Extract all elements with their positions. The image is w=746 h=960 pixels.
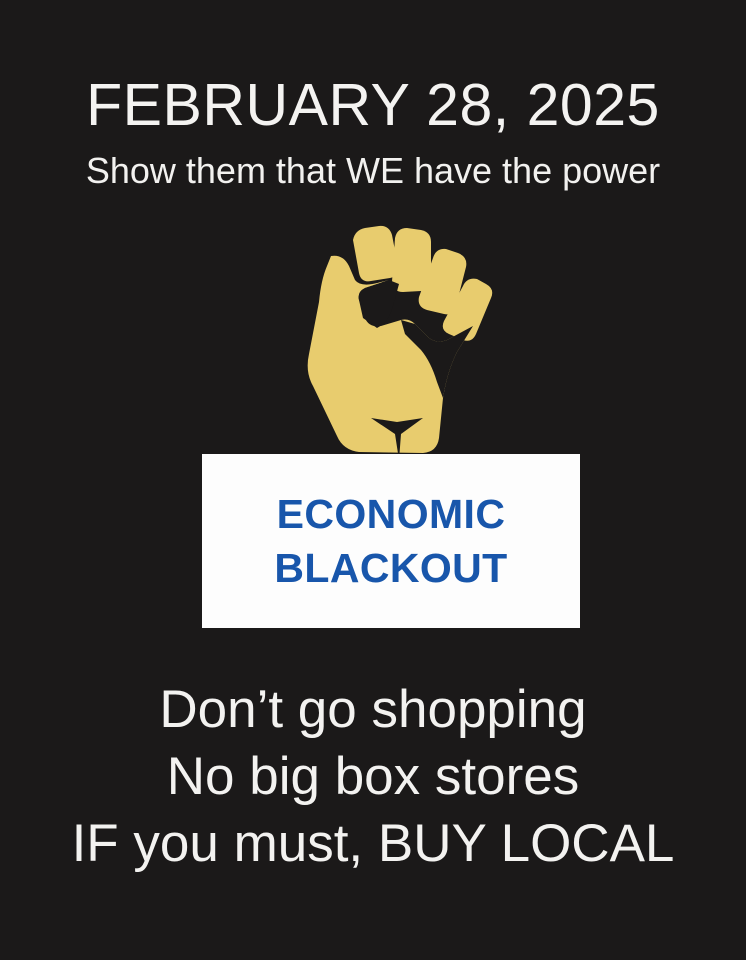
- fist-and-sign-graphic: ECONOMIC BLACKOUT: [0, 222, 746, 634]
- raised-fist-icon: [297, 222, 493, 462]
- cta-line-no-big-box-stores: No big box stores: [0, 743, 746, 810]
- header-block: FEBRUARY 28, 2025 Show them that WE have…: [0, 0, 746, 189]
- sign-line-economic: ECONOMIC: [277, 487, 506, 541]
- sign-line-blackout: BLACKOUT: [274, 541, 507, 595]
- protest-sign: ECONOMIC BLACKOUT: [202, 454, 580, 628]
- cta-line-buy-local: IF you must, BUY LOCAL: [0, 810, 746, 877]
- subtitle: Show them that WE have the power: [0, 135, 746, 189]
- page-title: FEBRUARY 28, 2025: [0, 0, 746, 135]
- cta-line-dont-go-shopping: Don’t go shopping: [0, 676, 746, 743]
- call-to-action-block: Don’t go shopping No big box stores IF y…: [0, 676, 746, 877]
- economic-blackout-poster: FEBRUARY 28, 2025 Show them that WE have…: [0, 0, 746, 960]
